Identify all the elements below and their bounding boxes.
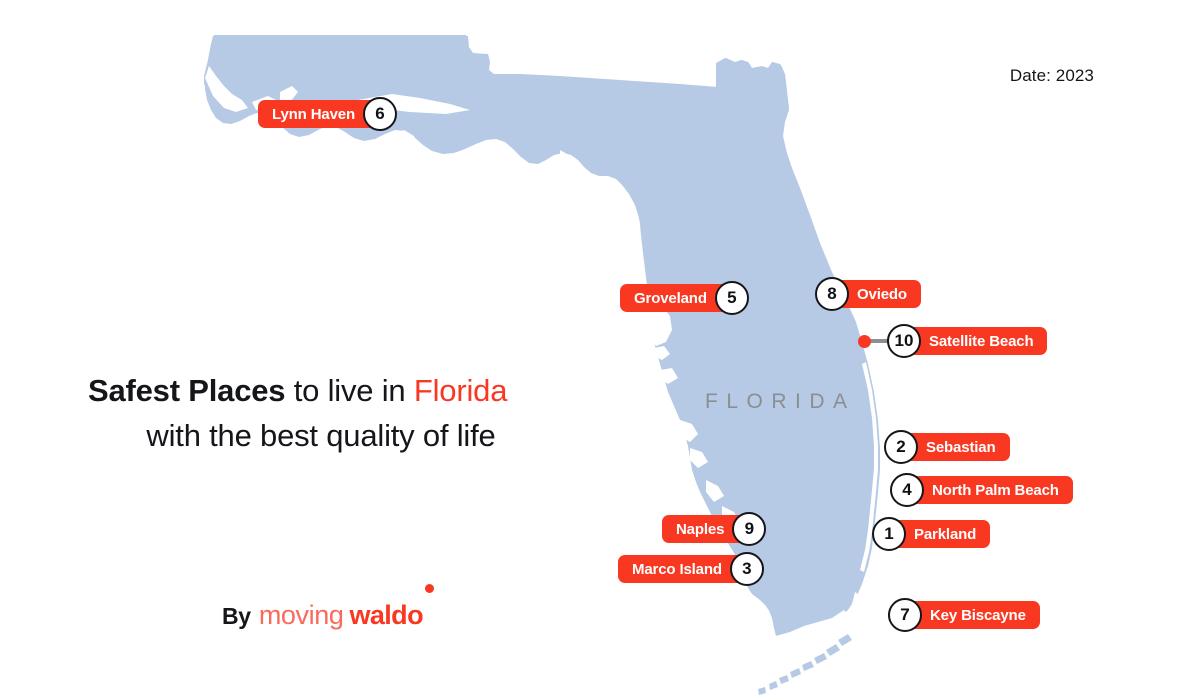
map-pin-marco-island[interactable]: Marco Island 3 (618, 552, 764, 586)
map-pin-sebastian[interactable]: 2 Sebastian (884, 430, 1010, 464)
title-line-2: with the best quality of life (88, 413, 578, 458)
date-label: Date: 2023 (1010, 66, 1094, 86)
title-accent-part: Florida (414, 373, 507, 408)
map-pin-key-biscayne[interactable]: 7 Key Biscayne (888, 598, 1040, 632)
logo-dot-icon (425, 584, 434, 593)
pin-badge-parkland: 1 (872, 517, 906, 551)
map-pin-north-palm-beach[interactable]: 4 North Palm Beach (890, 473, 1073, 507)
pin-label-north-palm-beach: North Palm Beach (906, 476, 1073, 504)
map-pin-oviedo[interactable]: 8 Oviedo (815, 277, 921, 311)
map-pin-lynn-haven[interactable]: Lynn Haven 6 (258, 97, 397, 131)
title-mid-part: to live in (285, 373, 414, 408)
map-pin-parkland[interactable]: 1 Parkland (872, 517, 990, 551)
pin-badge-naples: 9 (732, 512, 766, 546)
pin-badge-oviedo: 8 (815, 277, 849, 311)
map-pin-groveland[interactable]: Groveland 5 (620, 281, 749, 315)
pin-label-satellite-beach: Satellite Beach (903, 327, 1047, 355)
map-state-label: FLORIDA (705, 390, 856, 414)
page-title: Safest Places to live in Florida with th… (88, 368, 578, 458)
pin-badge-sebastian: 2 (884, 430, 918, 464)
map-anchor-dot-satellite-beach (858, 335, 871, 348)
logo-moving-text: moving (259, 600, 344, 631)
map-pin-naples[interactable]: Naples 9 (662, 512, 766, 546)
title-bold-part: Safest Places (88, 373, 285, 408)
pin-badge-north-palm-beach: 4 (890, 473, 924, 507)
brand-logo[interactable]: By moving waldo (222, 600, 423, 631)
florida-keys (758, 634, 852, 695)
pin-badge-marco-island: 3 (730, 552, 764, 586)
pin-badge-groveland: 5 (715, 281, 749, 315)
logo-by-text: By (222, 603, 251, 630)
infographic-canvas: FLORIDA Date: 2023 Safest Places to live… (0, 0, 1200, 700)
pin-badge-lynn-haven: 6 (363, 97, 397, 131)
map-pin-satellite-beach[interactable]: 10 Satellite Beach (887, 324, 1047, 358)
title-line-1: Safest Places to live in Florida (88, 368, 578, 413)
pin-label-marco-island: Marco Island (618, 555, 748, 583)
pin-label-key-biscayne: Key Biscayne (904, 601, 1040, 629)
pin-badge-key-biscayne: 7 (888, 598, 922, 632)
pin-badge-satellite-beach: 10 (887, 324, 921, 358)
logo-waldo-text: waldo (349, 600, 423, 631)
